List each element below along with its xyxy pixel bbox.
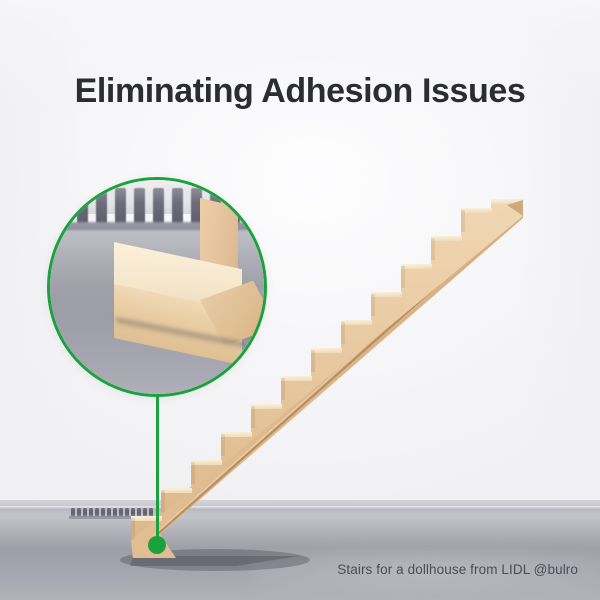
comb-tooth <box>153 188 164 226</box>
comb-tooth <box>134 188 145 226</box>
callout-target-dot <box>148 536 166 554</box>
comb-tooth <box>96 188 107 226</box>
comb-tooth <box>115 188 126 226</box>
page-title: Eliminating Adhesion Issues <box>0 72 600 111</box>
magnifier-circle[interactable] <box>47 177 267 397</box>
callout-connector-line <box>156 396 159 544</box>
image-caption: Stairs for a dollhouse from LIDL @bulro <box>337 562 578 577</box>
comb-tooth <box>77 188 88 226</box>
screenshot-canvas: Eliminating Adhesion Issues Stairs for a… <box>0 0 600 600</box>
comb-tooth <box>58 188 69 226</box>
magnifier-content <box>50 180 264 394</box>
comb-tooth <box>172 188 183 226</box>
comb-tooth <box>248 188 259 226</box>
